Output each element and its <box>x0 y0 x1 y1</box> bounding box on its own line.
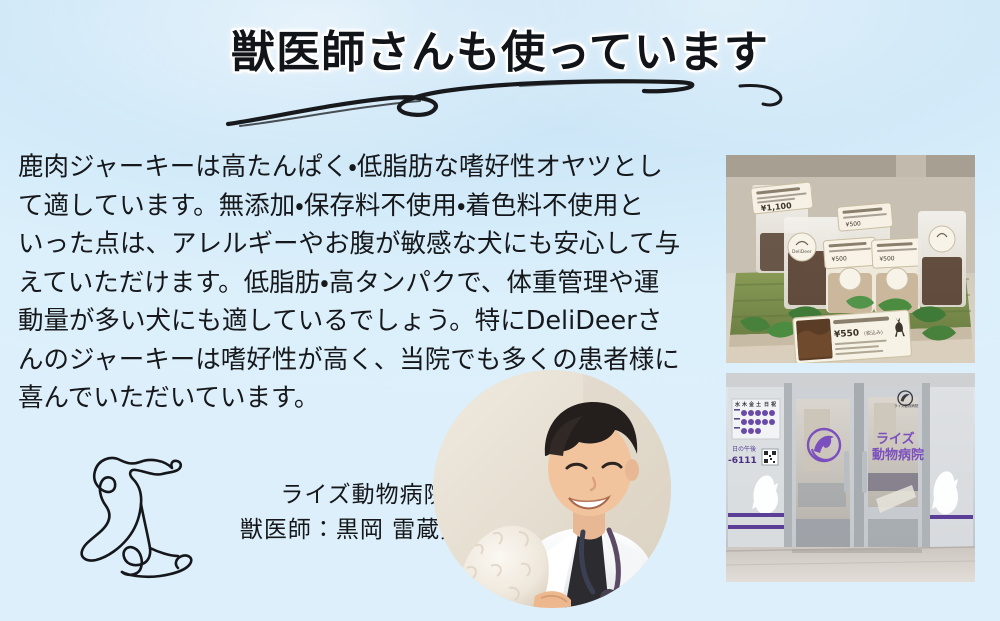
svg-text:木: 木 <box>741 401 748 408</box>
svg-text:水: 水 <box>734 401 741 408</box>
svg-text:¥500: ¥500 <box>879 255 895 263</box>
svg-text:-6111: -6111 <box>728 456 757 466</box>
clinic-schedule-sign: 水木金 土日祝 日の午後 -6111 <box>728 399 780 466</box>
body-line: 鹿肉ジャーキーは高たんぱく・低脂肪な嗜好性オヤツとし <box>18 148 718 187</box>
svg-text:¥500: ¥500 <box>831 255 847 263</box>
svg-text:土: 土 <box>756 401 761 408</box>
svg-text:日の午後: 日の午後 <box>732 445 756 453</box>
dog-line-art-icon <box>78 452 210 580</box>
svg-text:金: 金 <box>748 401 755 408</box>
svg-text:ライズ動物病院: ライズ動物病院 <box>894 403 919 408</box>
headline-underline-swoosh <box>220 74 820 136</box>
body-line: 動量が多い犬にも適しているでしょう。特にDeliDeerさ <box>18 302 718 341</box>
body-paragraph: 鹿肉ジャーキーは高たんぱく・低脂肪な嗜好性オヤツとし て適しています。無添加・保… <box>18 148 718 418</box>
body-line: んのジャーキーは嗜好性が高く、当院でも多くの患者様に <box>18 341 718 380</box>
svg-text:日: 日 <box>764 401 769 408</box>
svg-text:祝: 祝 <box>770 401 776 408</box>
svg-text:DeliDeer: DeliDeer <box>792 249 812 255</box>
product-shelf-photo: ¥1,100 DeliDeer ¥500 ¥5 <box>726 155 975 363</box>
headline-block: 獣医師さんも使っています <box>0 22 1000 132</box>
svg-text:¥500: ¥500 <box>845 220 861 228</box>
promo-banner: 獣医師さんも使っています 鹿肉ジャーキーは高たんぱく・低脂肪な嗜好性オヤツとし … <box>0 0 1000 621</box>
svg-text:(税込み): (税込み) <box>864 329 883 337</box>
vet-portrait-photo <box>433 370 671 608</box>
body-line: て適しています。無添加・保存料不使用・着色料不使用と <box>18 187 718 226</box>
price-card: ¥550 (税込み) <box>793 310 912 363</box>
body-line: いった点は、アレルギーやお腹が敏感な犬にも安心して与 <box>18 225 718 264</box>
body-line: えていただけます。低脂肪・高タンパクで、体重管理や運 <box>18 264 718 303</box>
svg-text:動物病院: 動物病院 <box>872 447 924 463</box>
svg-text:¥550: ¥550 <box>834 328 860 340</box>
clinic-entrance-photo: 水木金 土日祝 日の午後 -6111 <box>726 373 975 582</box>
svg-text:ライズ: ライズ <box>876 431 915 447</box>
